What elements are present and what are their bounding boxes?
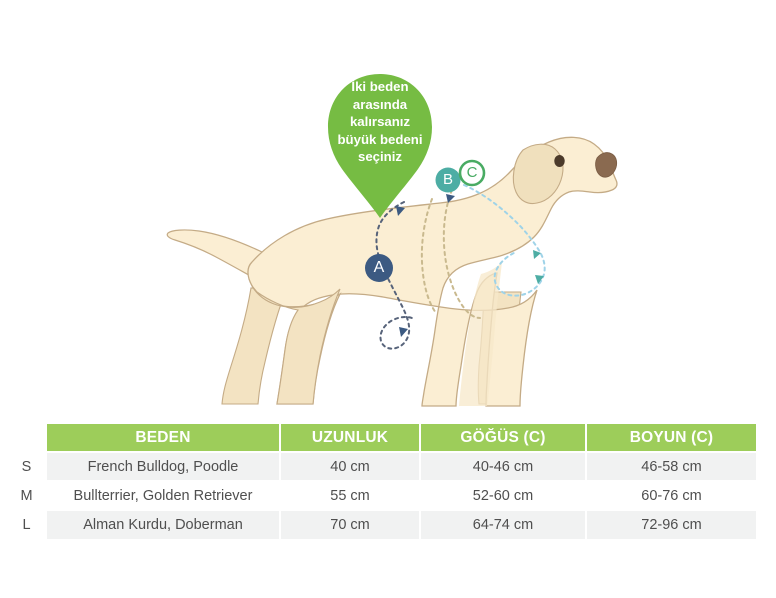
row-length-s: 40 cm bbox=[280, 452, 420, 481]
callout-line-3: kalırsanız bbox=[328, 113, 432, 131]
table-row: S French Bulldog, Poodle 40 cm 40-46 cm … bbox=[8, 452, 756, 481]
column-header-uzunluk: UZUNLUK bbox=[280, 424, 420, 452]
row-length-l: 70 cm bbox=[280, 510, 420, 539]
row-size-l: L bbox=[8, 510, 46, 539]
dog-size-illustration: İki beden arasında kalırsanız büyük bede… bbox=[0, 0, 776, 418]
callout-line-4: büyük bedeni bbox=[328, 131, 432, 149]
row-neck-s: 46-58 cm bbox=[586, 452, 756, 481]
dog-eye bbox=[554, 155, 564, 167]
row-chest-m: 52-60 cm bbox=[420, 481, 586, 510]
marker-a-label: A bbox=[365, 257, 393, 279]
row-length-m: 55 cm bbox=[280, 481, 420, 510]
row-breed-m: Bullterrier, Golden Retriever bbox=[46, 481, 280, 510]
callout-text: İki beden arasında kalırsanız büyük bede… bbox=[328, 78, 432, 166]
column-header-beden: BEDEN bbox=[46, 424, 280, 452]
row-breed-s: French Bulldog, Poodle bbox=[46, 452, 280, 481]
row-chest-s: 40-46 cm bbox=[420, 452, 586, 481]
column-header-boyun: BOYUN (C) bbox=[586, 424, 756, 452]
marker-c-label: C bbox=[460, 163, 484, 183]
column-header-gogus: GÖĞÜS (C) bbox=[420, 424, 586, 452]
row-neck-l: 72-96 cm bbox=[586, 510, 756, 539]
row-size-m: M bbox=[8, 481, 46, 510]
size-chart-table: BEDEN UZUNLUK GÖĞÜS (C) BOYUN (C) S Fren… bbox=[8, 424, 756, 539]
callout-line-1: İki beden bbox=[328, 78, 432, 96]
row-breed-l: Alman Kurdu, Doberman bbox=[46, 510, 280, 539]
table-row: L Alman Kurdu, Doberman 70 cm 64-74 cm 7… bbox=[8, 510, 756, 539]
marker-b-label: B bbox=[435, 170, 461, 190]
column-header-size bbox=[8, 424, 46, 452]
row-neck-m: 60-76 cm bbox=[586, 481, 756, 510]
dog-leg-rear-far bbox=[222, 288, 286, 404]
callout-line-5: seçiniz bbox=[328, 148, 432, 166]
row-size-s: S bbox=[8, 452, 46, 481]
callout-line-2: arasında bbox=[328, 96, 432, 114]
table-row: M Bullterrier, Golden Retriever 55 cm 52… bbox=[8, 481, 756, 510]
table-header-row: BEDEN UZUNLUK GÖĞÜS (C) BOYUN (C) bbox=[8, 424, 756, 452]
row-chest-l: 64-74 cm bbox=[420, 510, 586, 539]
